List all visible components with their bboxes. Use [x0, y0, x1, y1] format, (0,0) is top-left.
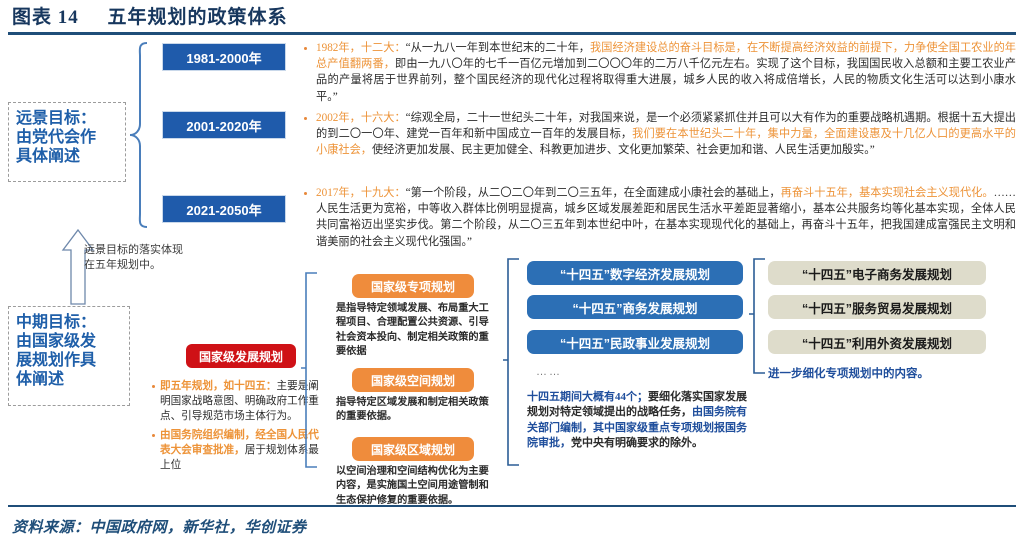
orange-group-bracket-icon	[300, 270, 320, 470]
stage-label-mid: 中期目标： 由国家级发 展规划作具 体阐述	[8, 306, 130, 406]
figure-label: 图表 14	[12, 7, 79, 28]
orange-plan-desc-2: 指导特定区域发展和制定相关政策的重要依据。	[336, 396, 496, 425]
vision-line-3: 具体阐述	[16, 147, 118, 166]
beige-plan-chip-2[interactable]: “十四五”服务贸易发展规划	[768, 295, 986, 319]
paragraph-1982: 1982年，十二大：“从一九八一年到本世纪末的二十年，我国经济建设总的奋斗目标是…	[316, 40, 1016, 105]
bullet-dot-3	[304, 192, 307, 195]
footer-divider	[8, 505, 1016, 507]
vision-line-2: 由党代会作	[16, 128, 118, 147]
bullet-dot-2	[304, 117, 307, 120]
period-chip-2021-2050[interactable]: 2021-2050年	[163, 196, 285, 222]
vision-brace-icon	[127, 40, 151, 230]
beige-plan-chip-3[interactable]: “十四五”利用外资发展规划	[768, 330, 986, 354]
bullet-dot-mid-1	[152, 385, 155, 388]
bullet-dot-mid-2	[152, 434, 155, 437]
vision-line-1: 远景目标：	[16, 109, 118, 128]
orange-plan-desc-3: 以空间治理和空间结构优化为主要内容，是实施国土空间用途管制和生态保护修复的重要依…	[336, 465, 496, 508]
mid-line-4: 体阐述	[16, 370, 122, 389]
blue-group-bracket-icon	[502, 256, 522, 468]
mid-line-1: 中期目标：	[16, 313, 122, 332]
beige-plan-chip-1[interactable]: “十四五”电子商务发展规划	[768, 261, 986, 285]
paragraph-lead: 2017年，十九大：	[316, 187, 406, 199]
text-run: 党中央有明确要求的除外。	[571, 437, 703, 449]
text-run: “从一九八一年到本世纪末的二十年，	[406, 42, 590, 54]
text-run: 再奋斗十五年，基本实现社会主义现代化。	[781, 187, 994, 199]
figure-title-text: 五年规划的政策体系	[108, 7, 288, 28]
figure-root: 图表 14 五年规划的政策体系 远景目标： 由党代会作 具体阐述 中期目标： 由…	[0, 0, 1024, 546]
paragraph-2017: 2017年，十九大：“第一个阶段，从二〇二〇年到二〇三五年，在全面建成小康社会的…	[316, 185, 1016, 250]
vision-note-line-2: 在五年规划中。	[84, 258, 183, 273]
blue-plans-ellipsis: ……	[536, 366, 562, 378]
orange-plan-pill-3[interactable]: 国家级区域规划	[352, 437, 474, 461]
orange-plan-pill-2[interactable]: 国家级空间规划	[352, 368, 474, 392]
paragraph-2002: 2002年，十六大：“综观全局，二十一世纪头二十年，对我国来说，是一个必须紧紧抓…	[316, 110, 1016, 159]
vision-note: 远景目标的落实体现 在五年规划中。	[84, 243, 183, 273]
blue-plan-chip-2[interactable]: “十四五”商务发展规划	[527, 295, 743, 319]
text-run: 使经济更加发展、民主更加健全、科教更加进步、文化更加繁荣、社会更加和谐、人民生活…	[372, 144, 875, 156]
mid-line-3: 展规划作具	[16, 351, 122, 370]
beige-plans-note: 进一步细化专项规划中的内容。	[768, 365, 929, 381]
orange-plan-desc-1: 是指导特定领域发展、布局重大工程项目、合理配置公共资源、引导社会资本投向、制定相…	[336, 302, 496, 360]
blue-plans-note: 十四五期间大概有44个；要细化落实国家发展规划对特定领域提出的战略任务，由国务院…	[527, 390, 749, 452]
mid-line-2: 由国家级发	[16, 332, 122, 351]
blue-plan-chip-1[interactable]: “十四五”数字经济发展规划	[527, 261, 743, 285]
blue-plan-chip-3[interactable]: “十四五”民政事业发展规划	[527, 330, 743, 354]
period-chip-1981-2000[interactable]: 1981-2000年	[163, 44, 285, 70]
bullet-dot-1	[304, 47, 307, 50]
paragraph-lead: 2002年，十六大：	[316, 112, 406, 124]
text-run: 十四五期间大概有44个；	[527, 391, 648, 403]
vision-note-line-1: 远景目标的落实体现	[84, 243, 183, 258]
title-divider	[8, 32, 1016, 35]
paragraph-lead: 1982年，十二大：	[316, 42, 406, 54]
orange-plan-pill-1[interactable]: 国家级专项规划	[352, 274, 474, 298]
page-title: 图表 14 五年规划的政策体系	[12, 2, 288, 29]
beige-group-bracket-icon	[748, 256, 768, 376]
source-line: 资料来源：中国政府网，新华社，华创证券	[12, 516, 307, 537]
stage-label-vision: 远景目标： 由党代会作 具体阐述	[8, 102, 126, 182]
period-chip-2001-2020[interactable]: 2001-2020年	[163, 112, 285, 138]
national-development-plan-pill[interactable]: 国家级发展规划	[186, 344, 296, 368]
text-run: “第一个阶段，从二〇二〇年到二〇三五年，在全面建成小康社会的基础上，	[406, 187, 781, 199]
text-run: 即由一九八〇年的七千一百亿元增加到二〇〇〇年的二万八千亿元左右。实现了这个目标，…	[316, 58, 1016, 102]
text-run: 即五年规划，如十四五：	[160, 381, 277, 392]
